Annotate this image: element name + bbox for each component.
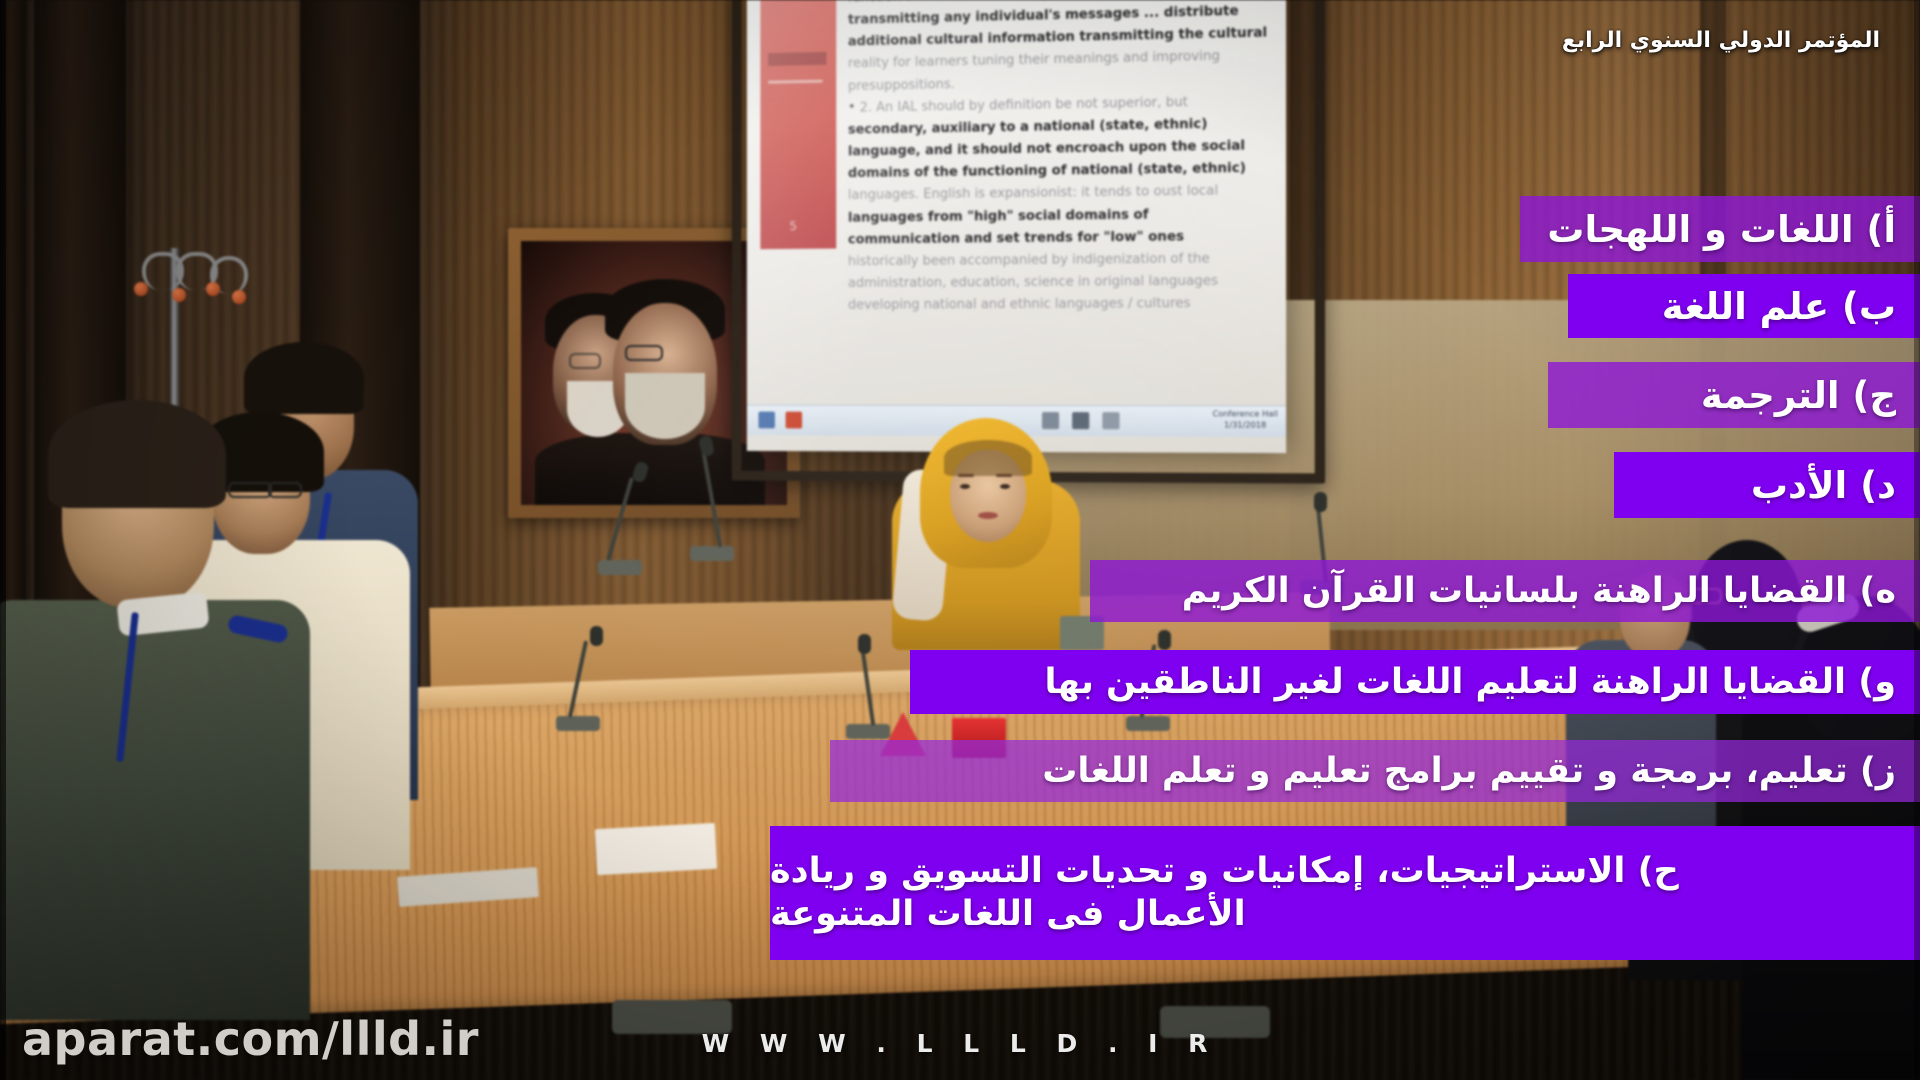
topic-bar-e: ه) القضايا الراهنة بلسانيات القرآن الكري…: [1090, 560, 1920, 622]
frame-edge-left: [0, 0, 6, 1080]
topic-bar-g: ز) تعليم، برمجة و تقييم برامج تعليم و تع…: [830, 740, 1920, 802]
frame-edge-right: [1914, 0, 1920, 1080]
aparat-watermark: aparat.com/llld.ir: [22, 1012, 479, 1066]
conference-title: المؤتمر الدولي السنوي الرابع: [1562, 28, 1880, 53]
topic-bar-h-line2: الأعمال فى اللغات المتنوعة: [770, 895, 1246, 934]
topic-bar-h: ح) الاستراتيجيات، إمكانيات و تحديات التس…: [770, 826, 1920, 960]
site-watermark: W W W . L L L D . I R: [702, 1029, 1219, 1058]
video-frame: 5 function of a code and nothing but a c…: [0, 0, 1920, 1080]
topic-bar-d: د) الأدب: [1614, 452, 1920, 518]
topic-bar-a: أ) اللغات و اللهجات: [1520, 196, 1920, 262]
graphics-overlay: المؤتمر الدولي السنوي الرابع أ) اللغات و…: [0, 0, 1920, 1080]
topic-bar-h-line1: ح) الاستراتيجيات، إمكانيات و تحديات التس…: [770, 852, 1679, 891]
topic-bar-b: ب) علم اللغة: [1568, 274, 1920, 338]
topic-bar-c: ج) الترجمة: [1548, 362, 1920, 428]
topic-bar-f: و) القضايا الراهنة لتعليم اللغات لغير ال…: [910, 650, 1920, 714]
